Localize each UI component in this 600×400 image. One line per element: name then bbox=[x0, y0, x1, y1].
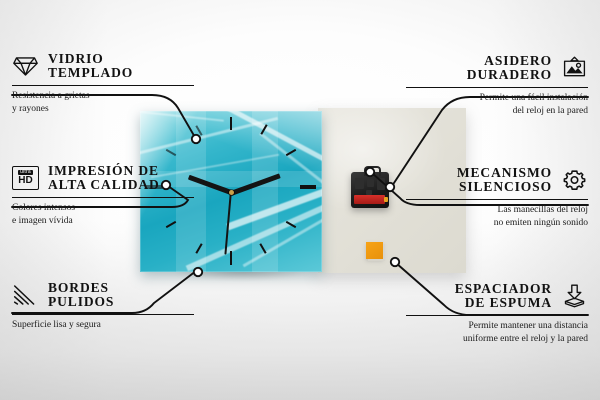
feature-titles: MECANISMO SILENCIOSO bbox=[457, 166, 552, 195]
feature-desc-line2: y rayones bbox=[12, 103, 202, 116]
glass-band bbox=[252, 111, 278, 272]
clock-tick bbox=[300, 185, 316, 189]
feature-desc-line1: Permite una fácil instalación bbox=[398, 92, 588, 105]
feature-desc-line2: no emiten ningún sonido bbox=[398, 217, 588, 230]
feature-heading: MECANISMO SILENCIOSO bbox=[398, 166, 588, 195]
mechanism-hanger-tab bbox=[364, 166, 381, 176]
feature-title-line1: MECANISMO bbox=[457, 166, 552, 180]
feature-title-line2: PULIDOS bbox=[48, 295, 114, 309]
gear-icon bbox=[561, 168, 588, 192]
feature-title-line2: ALTA CALIDAD bbox=[48, 178, 160, 192]
feature-heading: ASIDERO DURADERO bbox=[398, 54, 588, 83]
feature-titles: VIDRIO TEMPLADO bbox=[48, 52, 133, 81]
clock-mechanism bbox=[351, 172, 389, 208]
mechanism-slot bbox=[377, 178, 385, 190]
ultra-hd-badge-icon: ultra HD bbox=[12, 166, 39, 190]
foam-spacer bbox=[366, 242, 383, 259]
feature-desc-line2: del reloj en la pared bbox=[398, 105, 588, 118]
feature-titles: BORDES PULIDOS bbox=[48, 281, 114, 310]
feature-vidrio-templado: VIDRIO TEMPLADO Resistencia a grietas y … bbox=[12, 52, 202, 115]
feature-titles: IMPRESIÓN DE ALTA CALIDAD bbox=[48, 164, 160, 193]
divider bbox=[406, 315, 588, 317]
feature-description: Resistencia a grietas y rayones bbox=[12, 90, 202, 115]
feature-title-line2: DE ESPUMA bbox=[465, 296, 552, 310]
feature-espaciador-de-espuma: ESPACIADOR DE ESPUMA Permite mantener un… bbox=[398, 282, 588, 345]
feature-desc-line1: Permite mantener una distancia bbox=[398, 320, 588, 333]
clock-tick bbox=[230, 251, 232, 265]
feature-impresion-alta-calidad: ultra HD IMPRESIÓN DE ALTA CALIDAD Color… bbox=[12, 164, 202, 227]
feature-desc-line2: uniforme entre el reloj y la pared bbox=[398, 333, 588, 346]
feature-title-line2: TEMPLADO bbox=[48, 66, 133, 80]
hd-badge-large-text: HD bbox=[18, 176, 32, 186]
feature-description: Las manecillas del reloj no emiten ningú… bbox=[398, 204, 588, 229]
feature-desc-line1: Las manecillas del reloj bbox=[398, 204, 588, 217]
feature-asidero-duradero: ASIDERO DURADERO Permite una fácil insta… bbox=[398, 54, 588, 117]
mechanism-battery bbox=[354, 195, 385, 204]
feature-heading: BORDES PULIDOS bbox=[12, 281, 202, 310]
divider bbox=[12, 314, 194, 316]
clock-tick bbox=[230, 117, 232, 130]
feature-description: Permite mantener una distancia uniforme … bbox=[398, 320, 588, 345]
feature-heading: VIDRIO TEMPLADO bbox=[12, 52, 202, 81]
feature-heading: ESPACIADOR DE ESPUMA bbox=[398, 282, 588, 311]
feature-bordes-pulidos: BORDES PULIDOS Superficie lisa y segura bbox=[12, 281, 202, 332]
product-infographic: VIDRIO TEMPLADO Resistencia a grietas y … bbox=[0, 0, 600, 400]
feature-titles: ASIDERO DURADERO bbox=[467, 54, 552, 83]
diamond-icon bbox=[12, 54, 39, 78]
feature-title-line1: VIDRIO bbox=[48, 52, 104, 66]
feature-desc-line1: Superficie lisa y segura bbox=[12, 319, 202, 332]
feature-title-line1: BORDES bbox=[48, 281, 109, 295]
down-arrow-foam-pad-icon bbox=[561, 284, 588, 308]
feature-title-line2: DURADERO bbox=[467, 68, 552, 82]
mechanism-slot bbox=[367, 179, 374, 187]
feature-description: Colores intensos e imagen vívida bbox=[12, 202, 202, 227]
divider bbox=[12, 197, 194, 199]
clock-tick bbox=[166, 149, 177, 156]
feature-description: Superficie lisa y segura bbox=[12, 319, 202, 332]
divider bbox=[406, 199, 588, 201]
feature-desc-line1: Colores intensos bbox=[12, 202, 202, 215]
feature-desc-line2: e imagen vívida bbox=[12, 215, 202, 228]
feature-mecanismo-silencioso: MECANISMO SILENCIOSO Las manecillas del … bbox=[398, 166, 588, 229]
feature-title-line1: ESPACIADOR bbox=[455, 282, 552, 296]
hanging-picture-frame-icon bbox=[561, 56, 588, 80]
feature-title-line1: IMPRESIÓN DE bbox=[48, 164, 159, 178]
feature-titles: ESPACIADOR DE ESPUMA bbox=[455, 282, 552, 311]
feature-description: Permite una fácil instalación del reloj … bbox=[398, 92, 588, 117]
divider bbox=[12, 85, 194, 87]
feature-heading: ultra HD IMPRESIÓN DE ALTA CALIDAD bbox=[12, 164, 202, 193]
feature-title-line1: ASIDERO bbox=[484, 54, 552, 68]
diagonal-lines-icon bbox=[12, 283, 39, 307]
feature-desc-line1: Resistencia a grietas bbox=[12, 90, 202, 103]
feature-title-line2: SILENCIOSO bbox=[459, 180, 552, 194]
mechanism-slot bbox=[355, 178, 364, 189]
clock-center-pin bbox=[229, 190, 234, 195]
divider bbox=[406, 87, 588, 89]
